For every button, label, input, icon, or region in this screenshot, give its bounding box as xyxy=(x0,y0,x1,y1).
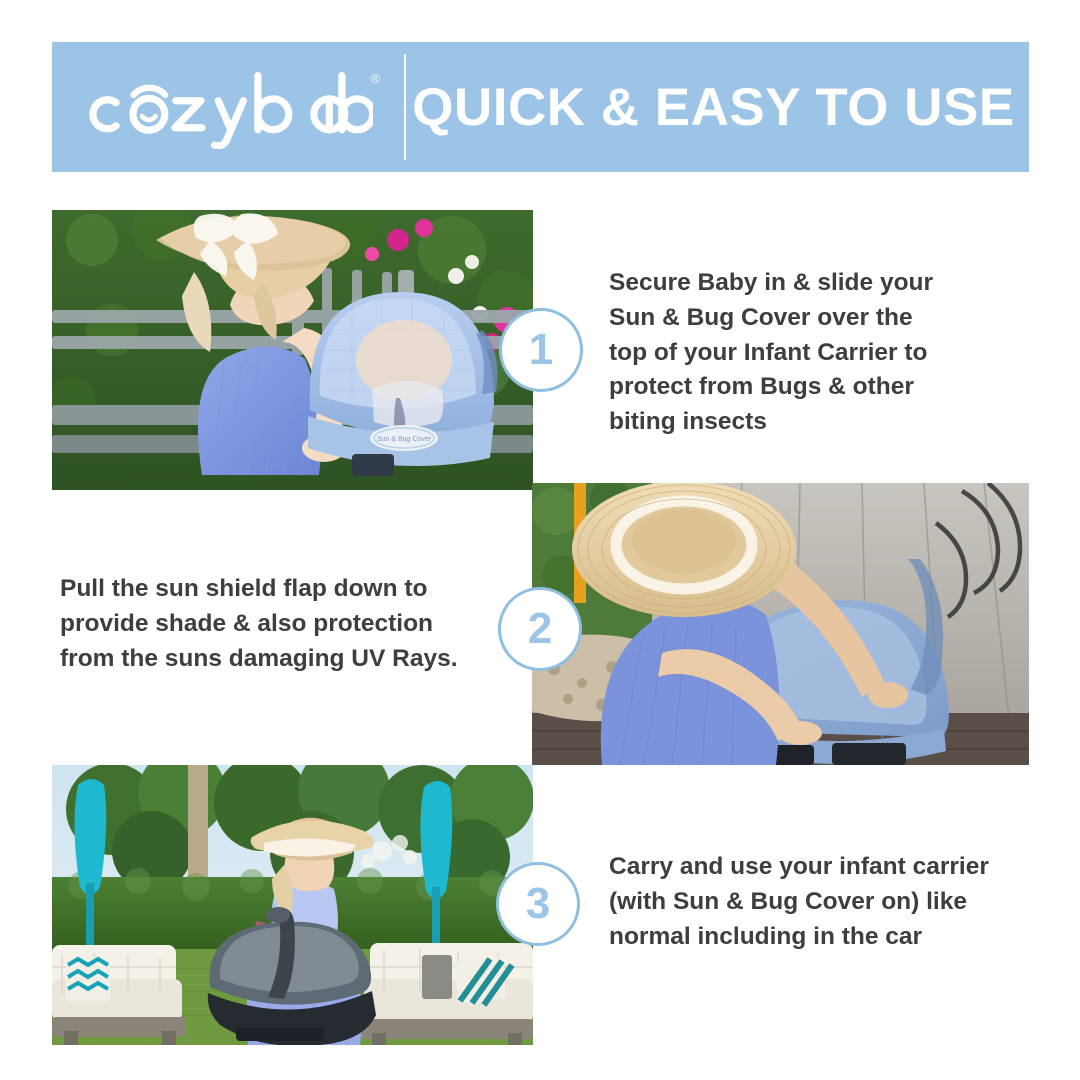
step-1-line-5: biting insects xyxy=(609,405,1009,440)
step-1-line-2: Sun & Bug Cover over the xyxy=(609,301,1009,336)
step-3-text: Carry and use your infant carrier (with … xyxy=(609,850,1029,954)
step-1-photo: Sun & Bug Cover xyxy=(52,210,533,490)
step-2-photo-illustration xyxy=(532,483,1029,765)
infographic-page: ® QUICK & EASY TO USE xyxy=(0,0,1080,1080)
step-3-photo xyxy=(52,765,533,1045)
step-2-photo xyxy=(532,483,1029,765)
step-2-text: Pull the sun shield flap down to provide… xyxy=(60,572,500,676)
header-bar: ® QUICK & EASY TO USE xyxy=(52,42,1029,172)
step-2-line-1: Pull the sun shield flap down to xyxy=(60,572,500,607)
step-3-photo-illustration xyxy=(52,765,533,1045)
cozybaby-wordmark-icon xyxy=(83,66,373,149)
svg-text:Sun & Bug Cover: Sun & Bug Cover xyxy=(377,436,432,443)
step-3-line-2: (with Sun & Bug Cover on) like xyxy=(609,885,1029,920)
cozybaby-logo: ® xyxy=(52,42,404,172)
step-2-line-2: provide shade & also protection xyxy=(60,607,500,642)
header-title: QUICK & EASY TO USE xyxy=(406,81,1029,134)
step-3-line-3: normal including in the car xyxy=(609,920,1029,955)
step-3-badge: 3 xyxy=(496,862,580,946)
header-divider xyxy=(404,54,406,160)
step-3-line-1: Carry and use your infant carrier xyxy=(609,850,1029,885)
step-2-badge: 2 xyxy=(498,587,582,671)
step-1-photo-illustration: Sun & Bug Cover xyxy=(52,210,533,490)
registered-trademark-icon: ® xyxy=(370,72,380,85)
step-2-line-3: from the suns damaging UV Rays. xyxy=(60,642,500,677)
step-1-text: Secure Baby in & slide your Sun & Bug Co… xyxy=(609,266,1009,440)
step-1-line-4: protect from Bugs & other xyxy=(609,370,1009,405)
step-1-line-1: Secure Baby in & slide your xyxy=(609,266,1009,301)
step-1-line-3: top of your Infant Carrier to xyxy=(609,336,1009,371)
step-1-badge: 1 xyxy=(499,308,583,392)
